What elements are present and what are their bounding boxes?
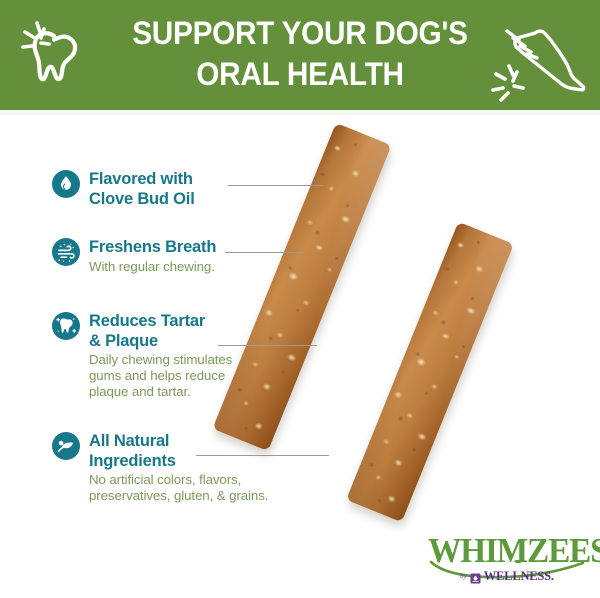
sparkling-tooth-icon [52,312,80,340]
parent-brand-lockup: by WELLNESS. [424,570,590,583]
feature-item-all-natural-ingredients: All Natural Ingredients No artificial co… [52,432,268,504]
toothbrush-sparkle-icon [487,16,592,106]
feature-item-reduces-tartar-plaque: Reduces Tartar & Plaque Daily chewing st… [52,312,232,401]
feature-title: Flavored with Clove Bud Oil [89,170,195,209]
water-droplet-icon [52,170,80,198]
header-title-line-2: ORAL HEALTH [109,54,490,95]
feature-list: Flavored with Clove Bud Oil [0,110,320,540]
chew-stick [346,222,514,523]
feature-item-clove-bud-oil: Flavored with Clove Bud Oil [52,170,195,210]
feature-description: With regular chewing. [89,259,216,275]
product-infographic: SUPPORT YOUR DOG'S ORAL HEALTH [0,0,600,598]
feature-title: Freshens Breath [89,238,216,258]
logo-by-text: by [460,572,467,581]
feature-item-freshens-breath: Freshens Breath With regular chewing. [52,238,216,275]
feature-title: Reduces Tartar & Plaque [89,312,232,351]
feature-title: All Natural Ingredients [89,432,268,471]
wellness-emblem-icon [470,571,481,582]
brand-logo: WHIMZEES by WELLNESS. [424,533,590,591]
feature-description: No artificial colors, flavors, preservat… [89,472,268,504]
fresh-breath-wind-icon [52,238,80,266]
feature-description: Daily chewing stimulates gums and helps … [89,352,232,401]
parent-brand-name: WELLNESS. [484,570,554,583]
header-title-line-1: SUPPORT YOUR DOG'S [132,15,468,51]
header-banner: SUPPORT YOUR DOG'S ORAL HEALTH [0,0,600,110]
tooth-sparkle-icon [18,17,106,97]
header-title: SUPPORT YOUR DOG'S ORAL HEALTH [109,13,490,95]
leaf-icon [52,432,80,460]
